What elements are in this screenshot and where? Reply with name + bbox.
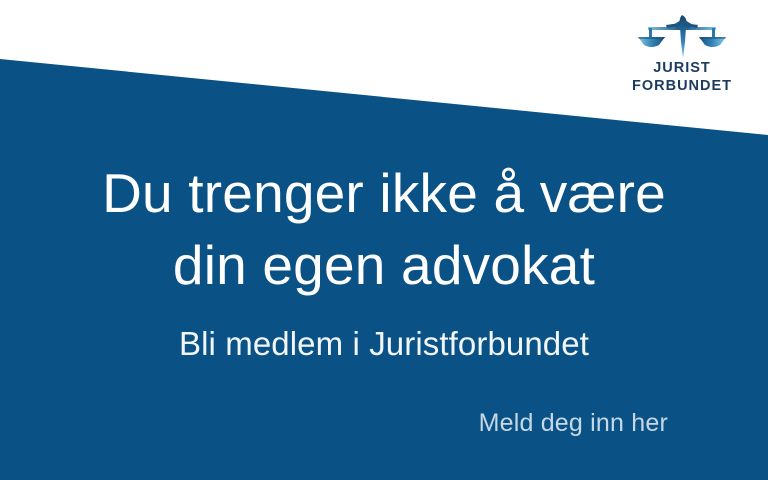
advertisement-banner[interactable]: JURIST FORBUNDET Du trenger ikke å være …	[0, 0, 768, 480]
headline-line-2: din egen advokat	[0, 238, 768, 293]
subheadline: Bli medlem i Juristforbundet	[0, 327, 768, 360]
headline-line-1: Du trenger ikke å være	[0, 166, 768, 221]
copy-container: Du trenger ikke å være din egen advokat …	[0, 0, 768, 480]
cta-signup-link[interactable]: Meld deg inn her	[479, 411, 668, 436]
